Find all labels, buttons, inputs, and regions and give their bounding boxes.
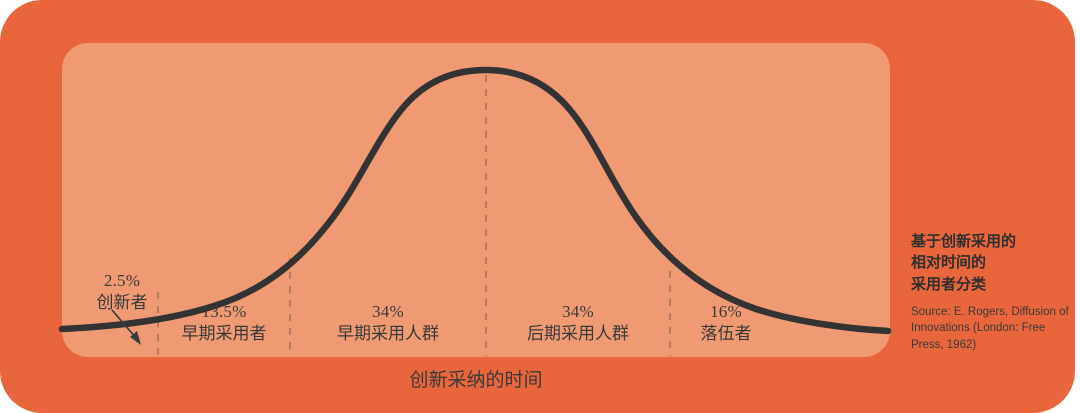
segment-percent: 13.5% <box>182 301 267 323</box>
segment-name: 后期采用人群 <box>527 323 629 345</box>
segment-name: 落伍者 <box>701 323 752 345</box>
segment-label-innovators: 2.5% 创新者 <box>97 270 148 315</box>
segment-name: 创新者 <box>97 292 148 314</box>
caption-title-line-3: 采用者分类 <box>911 274 1069 295</box>
caption-title: 基于创新采用的 相对时间的 采用者分类 <box>911 231 1069 295</box>
segment-percent: 34% <box>527 301 629 323</box>
segment-percent: 2.5% <box>97 270 148 292</box>
caption-block: 基于创新采用的 相对时间的 采用者分类 Source: E. Rogers, D… <box>911 231 1069 353</box>
caption-title-line-2: 相对时间的 <box>911 252 1069 273</box>
segment-label-early-adopters: 13.5% 早期采用者 <box>182 301 267 346</box>
caption-title-line-1: 基于创新采用的 <box>911 231 1069 252</box>
caption-source: Source: E. Rogers, Diffusion of Innovati… <box>911 304 1069 353</box>
segment-label-early-majority: 34% 早期采用人群 <box>337 301 439 346</box>
segment-name: 早期采用者 <box>182 323 267 345</box>
segment-label-laggards: 16% 落伍者 <box>701 301 752 346</box>
diagram-canvas: 2.5% 创新者 13.5% 早期采用者 34% 早期采用人群 34% 后期采用… <box>0 0 1080 413</box>
segment-label-late-majority: 34% 后期采用人群 <box>527 301 629 346</box>
segment-percent: 16% <box>701 301 752 323</box>
x-axis-title: 创新采纳的时间 <box>409 365 542 392</box>
segment-name: 早期采用人群 <box>337 323 439 345</box>
segment-percent: 34% <box>337 301 439 323</box>
